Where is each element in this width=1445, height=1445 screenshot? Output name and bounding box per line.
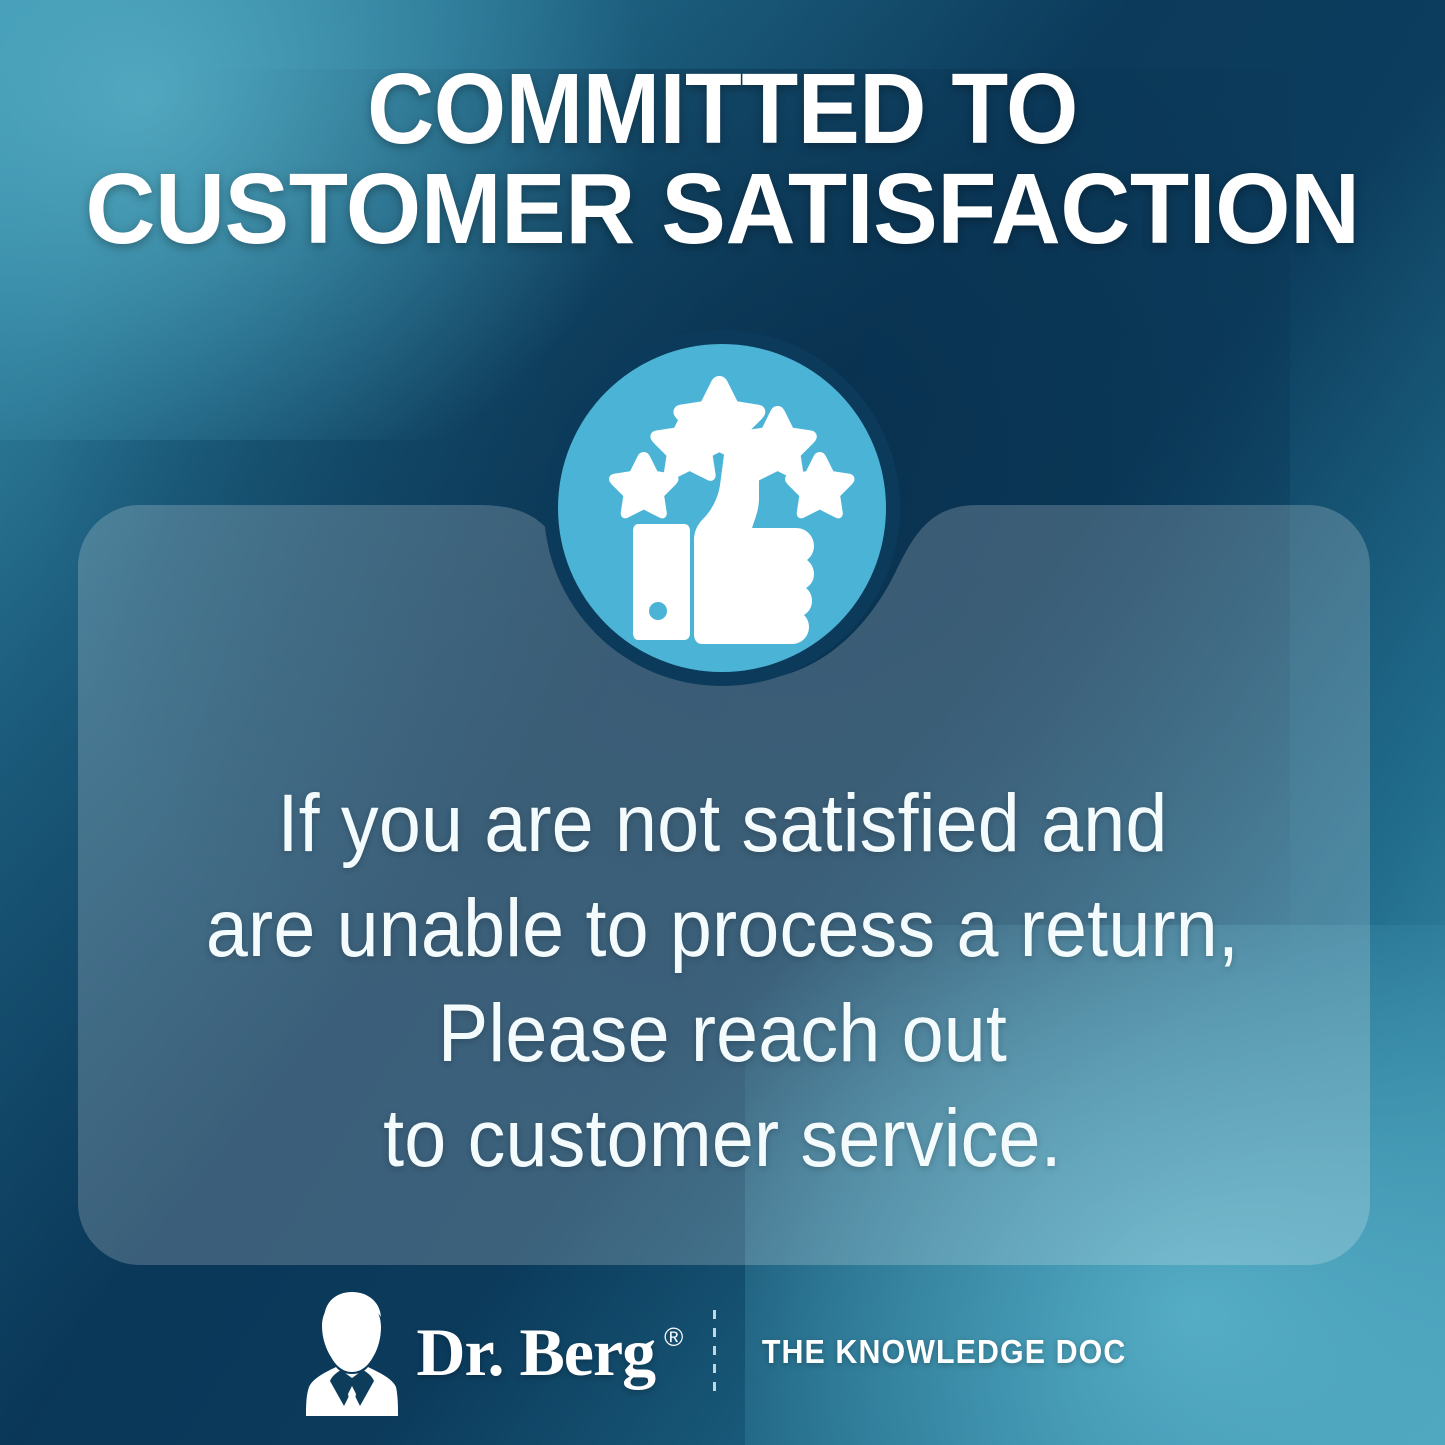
brand-name: Dr. Berg	[416, 1318, 655, 1386]
headline-line-2: CUSTOMER SATISFACTION	[49, 162, 1396, 256]
promo-graphic: COMMITTED TO CUSTOMER SATISFACTION	[0, 0, 1445, 1445]
page-title: COMMITTED TO CUSTOMER SATISFACTION	[0, 62, 1445, 256]
dr-berg-portrait-icon	[302, 1286, 398, 1418]
footer-divider	[713, 1310, 716, 1394]
satisfaction-badge	[542, 328, 902, 688]
brand-tagline: THE KNOWLEDGE DOC	[762, 1333, 1127, 1371]
message-line-4: to customer service.	[159, 1087, 1286, 1192]
registered-trademark-icon: ®	[664, 1324, 683, 1350]
message-line-1: If you are not satisfied and	[159, 772, 1286, 877]
headline-line-1: COMMITTED TO	[77, 62, 1369, 156]
message-line-3: Please reach out	[159, 982, 1286, 1087]
footer-branding: Dr. Berg ® THE KNOWLEDGE DOC	[0, 1277, 1445, 1427]
message-line-2: are unable to process a return,	[159, 877, 1286, 982]
thumbs-up-five-stars-icon	[542, 328, 902, 688]
message-body: If you are not satisfied and are unable …	[110, 772, 1335, 1192]
